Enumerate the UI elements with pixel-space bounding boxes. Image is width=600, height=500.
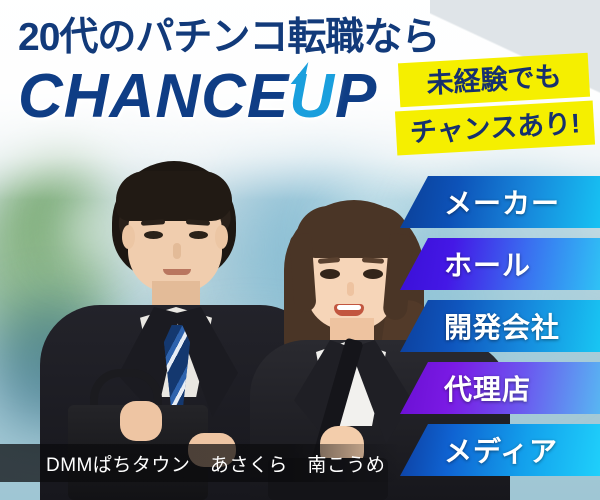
category-button-list: メーカー ホール 開発会社 代理店 メディア <box>400 176 600 486</box>
man-ear-left <box>122 225 135 249</box>
logo-letter-u-wrap: U <box>289 66 335 128</box>
category-label: ホール <box>444 244 531 284</box>
headline-text: 20代のパチンコ転職なら <box>18 18 439 57</box>
logo-letter-p: P <box>335 62 377 131</box>
woman-nose <box>347 282 354 296</box>
credit-bar: DMMぱちタウン あさくら 南こうめ <box>0 444 400 482</box>
woman-eye-left <box>320 269 340 279</box>
category-button-hall[interactable]: ホール <box>400 238 600 290</box>
man-fringe <box>116 171 232 221</box>
chance-up-logo: CHANCEUP <box>18 66 377 128</box>
man-hand-left <box>120 401 162 441</box>
category-button-media[interactable]: メディア <box>400 424 600 476</box>
woman-teeth <box>337 305 361 310</box>
category-button-maker[interactable]: メーカー <box>400 176 600 228</box>
category-label: メーカー <box>444 182 560 222</box>
category-button-agency[interactable]: 代理店 <box>400 362 600 414</box>
man-eye-right <box>189 231 208 239</box>
category-button-development-company[interactable]: 開発会社 <box>400 300 600 352</box>
recruitment-banner: 20代のパチンコ転職なら CHANCEUP 未経験でも チャンスあり! メーカー… <box>0 0 600 500</box>
man-eye-left <box>144 231 163 239</box>
man-nose <box>173 243 181 259</box>
logo-word-chance: CHANCE <box>18 62 289 131</box>
credit-text: DMMぱちタウン あさくら 南こうめ <box>46 450 385 477</box>
category-label: 開発会社 <box>444 306 560 346</box>
category-label: メディア <box>444 430 558 470</box>
category-label: 代理店 <box>444 368 531 408</box>
man-mouth <box>163 269 191 275</box>
woman-eye-right <box>363 269 383 279</box>
man-ear-right <box>215 225 228 249</box>
